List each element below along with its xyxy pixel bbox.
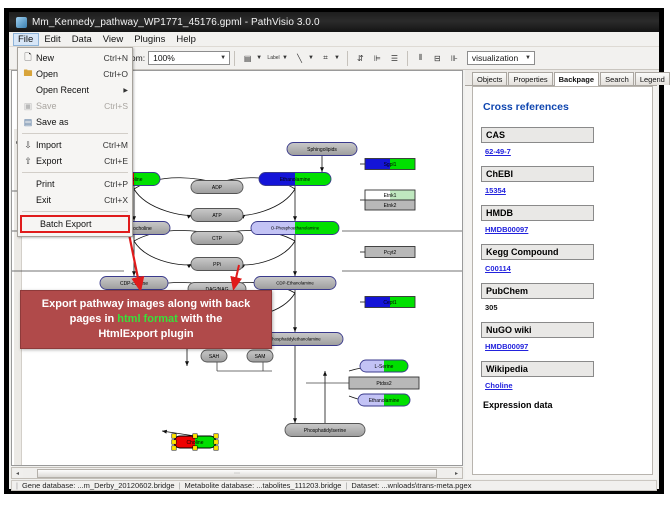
gene-label: Etnk1 <box>384 193 397 199</box>
toolbar-separator <box>407 51 408 66</box>
xref-value-kegg-compound[interactable]: C00114 <box>485 264 644 273</box>
selection-handle[interactable] <box>214 446 218 450</box>
group-icon[interactable]: ⊪ <box>446 50 463 67</box>
file-menu-dropdown[interactable]: 🗋NewCtrl+N🖿OpenCtrl+OOpen Recent▶▣SaveCt… <box>17 47 133 237</box>
pathway-node-ctp[interactable]: CTP <box>191 232 243 245</box>
menu-help[interactable]: Help <box>171 33 202 46</box>
node-label: ADP <box>212 185 223 191</box>
file-menu-label: Print <box>36 179 104 189</box>
expression-data-heading: Expression data <box>483 400 644 410</box>
xref-source-hmdb: HMDB <box>481 205 594 221</box>
selection-handle[interactable] <box>193 446 197 450</box>
file-menu-label: Export <box>36 156 104 166</box>
shape-icon[interactable]: ⌗ <box>317 50 334 67</box>
gene-node-etnk1[interactable]: Etnk1 <box>365 190 415 200</box>
status-segment-0: Gene database: ...m_Derby_20120602.bridg… <box>22 481 175 490</box>
menu-divider <box>22 172 128 173</box>
window-title: Mm_Kennedy_pathway_WP1771_45176.gpml - P… <box>32 17 320 28</box>
file-menu-accelerator: Ctrl+P <box>104 179 132 189</box>
side-panel-tabs: ObjectsPropertiesBackpageSearchLegend <box>465 70 657 86</box>
label-icon[interactable]: Label <box>265 50 282 67</box>
open-folder-icon: 🖿 <box>20 67 36 81</box>
visualization-value: visualization <box>472 53 518 63</box>
node-label: Ethanolamine <box>280 177 311 183</box>
cofactor-arrow-0 <box>134 189 192 215</box>
xref-value-pubchem: 305 <box>485 303 644 312</box>
arrow-choline-sel <box>162 431 195 436</box>
distribute-horizontal-icon[interactable]: ⦀ <box>412 50 429 67</box>
gene-node-sgpl1[interactable]: Sgpl1 <box>365 159 415 170</box>
import-icon: ⇩ <box>20 138 36 152</box>
gene-label: Sgpl1 <box>384 162 397 168</box>
visualization-combo[interactable]: visualization ▼ <box>467 51 535 65</box>
annotation-text: Export pathway images along with backpag… <box>34 297 258 342</box>
pathvisio-window: Mm_Kennedy_pathway_WP1771_45176.gpml - P… <box>9 12 659 489</box>
file-menu-accelerator: Ctrl+E <box>104 156 132 166</box>
annotation-callout: Export pathway images along with backpag… <box>20 290 272 349</box>
gene-node-ptdss2[interactable]: Ptdss2 <box>349 377 419 389</box>
file-menu-item-import[interactable]: ⇩ImportCtrl+M <box>18 137 132 153</box>
file-menu-label: Open <box>36 69 103 79</box>
status-separator: | <box>16 481 18 490</box>
file-menu-label: New <box>36 53 104 63</box>
pathway-node-ethanolamine[interactable]: Ethanolamine <box>358 394 410 406</box>
export-icon: ⇧ <box>20 154 36 168</box>
node-label: SAM <box>255 354 266 360</box>
selection-handle[interactable] <box>193 434 197 438</box>
status-segment-1: Metabolite database: ...tabolites_111203… <box>185 481 342 490</box>
title-bar: Mm_Kennedy_pathway_WP1771_45176.gpml - P… <box>9 12 659 32</box>
node-label: Phosphatidylethanolamine <box>269 337 321 342</box>
selection-handle[interactable] <box>214 440 218 444</box>
file-menu-item-save: ▣SaveCtrl+S <box>18 98 132 114</box>
selection-handle[interactable] <box>172 434 176 438</box>
canvas-horizontal-scrollbar[interactable]: ◂ ⋯ ▸ <box>11 467 463 479</box>
file-menu-accelerator: Ctrl+M <box>103 140 132 150</box>
xref-value-chebi[interactable]: 15354 <box>485 186 644 195</box>
menu-bar: FileEditDataViewPluginsHelp <box>9 32 659 47</box>
xref-value-wikipedia[interactable]: Choline <box>485 381 644 390</box>
outer-frame: Mm_Kennedy_pathway_WP1771_45176.gpml - P… <box>0 0 670 509</box>
file-menu-item-print[interactable]: PrintCtrl+P <box>18 176 132 192</box>
menu-file[interactable]: File <box>13 33 39 46</box>
pathway-node-cdp-ethanolamine[interactable]: CDP-Ethanolamine <box>254 277 336 290</box>
zoom-value: 100% <box>153 53 175 63</box>
file-menu-label: Open Recent <box>36 85 123 95</box>
gene-label: Ptdss2 <box>376 381 392 387</box>
status-separator: | <box>345 481 347 490</box>
tab-properties[interactable]: Properties <box>508 72 552 85</box>
xref-source-nugo-wiki: NuGO wiki <box>481 322 594 338</box>
file-menu-item-new[interactable]: 🗋NewCtrl+N <box>18 50 132 66</box>
xref-source-pubchem: PubChem <box>481 283 594 299</box>
gene-label: Etnk2 <box>384 203 397 209</box>
chevron-right-icon: ▶ <box>123 87 132 94</box>
tab-search[interactable]: Search <box>600 72 634 85</box>
menu-view[interactable]: View <box>98 33 129 46</box>
file-menu-label: Save <box>36 101 104 111</box>
file-menu-item-open-recent[interactable]: Open Recent▶ <box>18 82 132 98</box>
save-as-disk-icon: ▤ <box>20 115 36 129</box>
file-menu-accelerator: Ctrl+S <box>104 101 132 111</box>
menu-no-icon <box>20 83 36 97</box>
chevron-down-icon: ▼ <box>220 55 226 61</box>
backpage-title: Cross references <box>483 101 644 113</box>
gene-label: Pcyt2 <box>384 250 397 256</box>
stack-icon[interactable]: ⊟ <box>429 50 446 67</box>
node-label: SAH <box>209 354 220 360</box>
gene-node-pcyt2[interactable]: Pcyt2 <box>365 247 415 258</box>
file-menu-accelerator: Ctrl+O <box>103 69 132 79</box>
cofactor-arrow-2 <box>134 241 192 265</box>
pathway-node-o-phosphoethanolamine[interactable]: O-Phosphoethanolamine <box>251 222 339 235</box>
node-label: Sphingolipids <box>307 147 337 153</box>
node-label: ATP <box>212 213 222 219</box>
annotation-highlight: html format <box>117 313 178 325</box>
file-menu-item-exit[interactable]: ExitCtrl+X <box>18 192 132 208</box>
pathway-node-ppi[interactable]: PPi <box>191 258 243 271</box>
selection-handle[interactable] <box>172 440 176 444</box>
pathway-node-sphingolipids[interactable]: Sphingolipids <box>287 143 357 156</box>
file-menu-accelerator: Ctrl+X <box>104 195 132 205</box>
backpage-content: Cross references CAS62-49-7ChEBI15354HMD… <box>472 86 653 475</box>
scrollbar-thumb[interactable]: ⋯ <box>37 469 437 478</box>
pathway-node-cdp-choline[interactable]: CDP-choline <box>100 277 168 290</box>
toolbar-buttons: ▤▼Label▼╲▼⌗▼⇵⊫☰⦀⊟⊪ <box>239 50 463 67</box>
file-menu-label: Batch Export <box>40 219 124 229</box>
gene-node-etnk2[interactable]: Etnk2 <box>365 200 415 210</box>
app-icon <box>16 17 27 28</box>
zoom-combo[interactable]: 100% ▼ <box>148 51 230 65</box>
file-menu-label: Save as <box>36 117 128 127</box>
tab-backpage[interactable]: Backpage <box>554 72 599 86</box>
menu-plugins[interactable]: Plugins <box>129 33 171 46</box>
file-menu-accelerator: Ctrl+N <box>104 53 132 63</box>
tab-rail <box>465 70 472 86</box>
cofactor-arrow-3 <box>240 241 295 265</box>
pathway-node-sah[interactable]: SAH <box>201 350 227 362</box>
cofactor-arrow-1 <box>240 189 295 215</box>
status-bar: |Gene database: ...m_Derby_20120602.brid… <box>11 480 657 491</box>
selection-handle[interactable] <box>214 434 218 438</box>
status-separator: | <box>179 481 181 490</box>
xref-value-cas[interactable]: 62-49-7 <box>485 147 644 156</box>
chevron-down-icon[interactable]: ▼ <box>282 55 288 61</box>
xref-source-kegg-compound: Kegg Compound <box>481 244 594 260</box>
file-menu-item-open[interactable]: 🖿OpenCtrl+O <box>18 66 132 82</box>
scroll-right-icon[interactable]: ▸ <box>451 470 462 477</box>
align-center-icon[interactable]: ⇵ <box>352 50 369 67</box>
xref-source-cas: CAS <box>481 127 594 143</box>
pathway-node-phosphatidylserine[interactable]: Phosphatidylserine <box>285 424 365 437</box>
file-menu-item-save-as[interactable]: ▤Save as <box>18 114 132 130</box>
side-panel: ObjectsPropertiesBackpageSearchLegend Cr… <box>465 70 657 479</box>
menu-edit[interactable]: Edit <box>39 33 66 46</box>
save-disk-icon: ▣ <box>20 99 36 113</box>
node-label: PPi <box>213 262 221 268</box>
file-menu-label: Exit <box>36 195 104 205</box>
node-label: Phosphatidylserine <box>304 428 346 434</box>
chevron-down-icon[interactable]: ▼ <box>308 55 314 61</box>
cross-reference-list: CAS62-49-7ChEBI15354HMDBHMDB00097Kegg Co… <box>481 127 644 390</box>
gene-node-cept1[interactable]: Cept1 <box>365 297 415 308</box>
menu-no-icon <box>24 217 40 231</box>
node-label: CDP-Ethanolamine <box>276 281 314 286</box>
menu-data[interactable]: Data <box>67 33 98 46</box>
file-menu-item-batch-export[interactable]: Batch Export <box>20 215 130 233</box>
chevron-down-icon[interactable]: ▼ <box>256 55 262 61</box>
file-menu-item-export[interactable]: ⇧ExportCtrl+E <box>18 153 132 169</box>
node-label: O-Phosphoethanolamine <box>271 226 320 231</box>
node-label: Choline <box>187 440 204 446</box>
gene-label: Cept1 <box>383 300 397 306</box>
xref-source-chebi: ChEBI <box>481 166 594 182</box>
node-label: L-Serine <box>375 364 394 370</box>
node-label: Ethanolamine <box>369 398 400 404</box>
pathway-node-ethanolamine[interactable]: Ethanolamine <box>259 173 331 186</box>
node-label: CDP-choline <box>120 281 148 287</box>
xref-value-nugo-wiki[interactable]: HMDB00097 <box>485 342 644 351</box>
toolbar-separator <box>347 51 348 66</box>
align-left-icon[interactable]: ⊫ <box>369 50 386 67</box>
xref-source-wikipedia: Wikipedia <box>481 361 594 377</box>
tab-objects[interactable]: Objects <box>472 72 507 85</box>
tab-legend[interactable]: Legend <box>635 72 670 85</box>
menu-no-icon <box>20 177 36 191</box>
pathway-node-adp[interactable]: ADP <box>191 181 243 194</box>
menu-no-icon <box>20 193 36 207</box>
selection-handle[interactable] <box>172 446 176 450</box>
file-menu-label: Import <box>36 140 103 150</box>
pathway-node-choline[interactable]: Choline <box>172 434 218 450</box>
pathway-node-sam[interactable]: SAM <box>247 350 273 362</box>
chevron-down-icon[interactable]: ▼ <box>334 55 340 61</box>
menu-divider <box>22 133 128 134</box>
status-segment-2: Dataset: ...wnloads\trans-meta.pgex <box>351 481 471 490</box>
line-icon[interactable]: ╲ <box>291 50 308 67</box>
new-file-icon: 🗋 <box>20 51 36 65</box>
node-label: CTP <box>212 236 223 242</box>
pathway-node-l-serine[interactable]: L-Serine <box>360 360 408 372</box>
menu-divider <box>22 211 128 212</box>
datanode-icon[interactable]: ▤ <box>239 50 256 67</box>
scroll-left-icon[interactable]: ◂ <box>12 470 23 477</box>
distribute-vertical-icon[interactable]: ☰ <box>386 50 403 67</box>
pathway-node-atp[interactable]: ATP <box>191 209 243 222</box>
toolbar-separator-1 <box>234 51 235 66</box>
chevron-down-icon: ▼ <box>525 55 531 61</box>
scrollbar-track[interactable]: ⋯ <box>23 469 451 478</box>
xref-value-hmdb[interactable]: HMDB00097 <box>485 225 644 234</box>
